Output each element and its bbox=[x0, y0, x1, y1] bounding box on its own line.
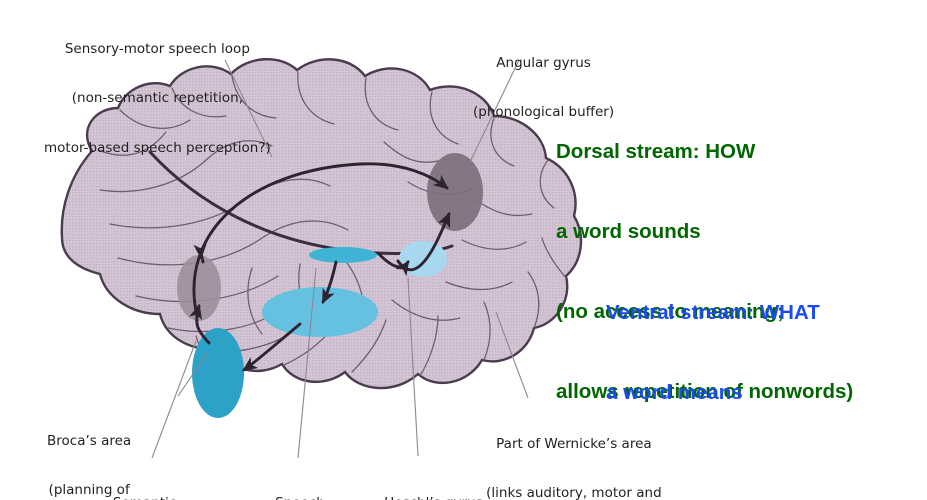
label-line: (non-semantic repetition, bbox=[44, 90, 271, 106]
semantic-knowledge-region bbox=[262, 287, 378, 337]
label-line: motor-based speech perception?) bbox=[44, 140, 271, 156]
label-line: (links auditory, motor and bbox=[485, 485, 663, 500]
leader-semantic bbox=[152, 341, 196, 458]
label-line: Semantic bbox=[108, 495, 181, 500]
ventral-stream-line: a word means bbox=[606, 380, 820, 407]
figure-canvas: Sensory-motor speech loop (non-semantic … bbox=[0, 0, 927, 500]
dorsal-stream-line: a word sounds bbox=[556, 219, 853, 246]
ventral-stream-annotation: Ventral stream: WHAT a word means bbox=[606, 247, 820, 460]
label-semantic-knowledge: Semantic knowledge bbox=[108, 462, 181, 500]
dorsal-stream-line: Dorsal stream: HOW bbox=[556, 139, 853, 166]
label-line: Angular gyrus bbox=[473, 55, 614, 71]
label-line: Broca’s area bbox=[24, 433, 154, 449]
angular-gyrus-region bbox=[427, 153, 483, 231]
label-line: Sensory-motor speech loop bbox=[44, 41, 271, 57]
brocas-area-region bbox=[192, 328, 244, 418]
speech-recognition-region bbox=[309, 247, 377, 263]
heschls-gyrus-region bbox=[399, 241, 447, 277]
label-speech-recognition: Speech recognition bbox=[262, 462, 338, 500]
label-sensory-motor-speech-loop: Sensory-motor speech loop (non-semantic … bbox=[44, 8, 271, 189]
ventral-stream-line: Ventral stream: WHAT bbox=[606, 300, 820, 327]
label-line: Speech bbox=[262, 495, 338, 500]
